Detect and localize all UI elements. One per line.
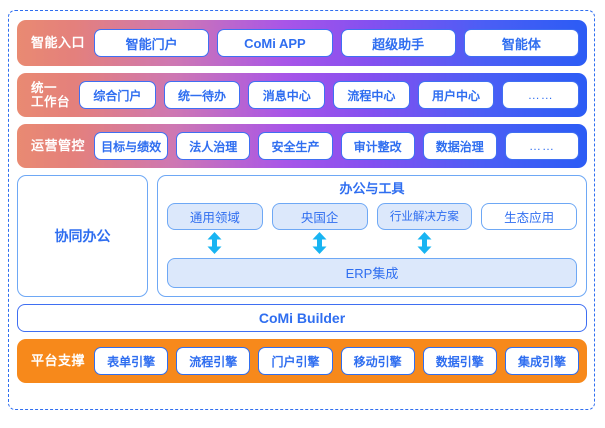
chip-comi-app[interactable]: CoMi APP xyxy=(217,29,332,57)
chip-goal-performance[interactable]: 目标与绩效 xyxy=(94,132,168,160)
chip-form-engine[interactable]: 表单引擎 xyxy=(94,347,168,375)
row-label-intelligent-entry: 智能入口 xyxy=(25,36,94,51)
chip-data-engine[interactable]: 数据引擎 xyxy=(423,347,497,375)
row-label-platform-support: 平台支撑 xyxy=(25,354,94,369)
row-operation-control: 运营管控 目标与绩效 法人治理 安全生产 审计整改 数据治理 …… xyxy=(17,124,587,168)
chip-row-unified-workbench: 综合门户 统一待办 消息中心 流程中心 用户中心 …… xyxy=(79,81,579,109)
row-label-line1: 统一 xyxy=(31,81,70,95)
tool-chip-general-domain[interactable]: 通用领域 xyxy=(167,203,263,230)
chip-more-operation[interactable]: …… xyxy=(505,132,579,160)
chip-more-workbench[interactable]: …… xyxy=(502,81,579,109)
chip-intelligent-portal[interactable]: 智能门户 xyxy=(94,29,209,57)
chip-data-governance[interactable]: 数据治理 xyxy=(423,132,497,160)
tool-chip-industry-solution[interactable]: 行业解决方案 xyxy=(377,203,473,230)
chip-integration-engine[interactable]: 集成引擎 xyxy=(505,347,579,375)
row-label-operation-control: 运营管控 xyxy=(25,139,94,154)
chip-user-center[interactable]: 用户中心 xyxy=(418,81,495,109)
chip-portal-engine[interactable]: 门户引擎 xyxy=(258,347,332,375)
collaborative-office-box[interactable]: 协同办公 xyxy=(17,175,148,297)
row-unified-workbench: 统一 工作台 综合门户 统一待办 消息中心 流程中心 用户中心 …… xyxy=(17,73,587,117)
arrow-cell-3 xyxy=(377,232,473,254)
chip-row-operation-control: 目标与绩效 法人治理 安全生产 审计整改 数据治理 …… xyxy=(94,132,579,160)
double-arrow-icon xyxy=(311,232,328,254)
chip-comprehensive-portal[interactable]: 综合门户 xyxy=(79,81,156,109)
comi-builder-bar[interactable]: CoMi Builder xyxy=(17,304,587,332)
row-label-unified-workbench: 统一 工作台 xyxy=(25,81,79,109)
tool-chip-row: 通用领域 央国企 行业解决方案 生态应用 xyxy=(167,203,577,230)
middle-section: 协同办公 办公与工具 通用领域 央国企 行业解决方案 生态应用 xyxy=(17,175,587,297)
tool-chip-central-soe[interactable]: 央国企 xyxy=(272,203,368,230)
row-label-line2: 工作台 xyxy=(31,95,70,109)
double-arrow-icon xyxy=(206,232,223,254)
chip-corporate-governance[interactable]: 法人治理 xyxy=(176,132,250,160)
arrow-cell-2 xyxy=(272,232,368,254)
row-intelligent-entry: 智能入口 智能门户 CoMi APP 超级助手 智能体 xyxy=(17,20,587,66)
chip-audit-rectification[interactable]: 审计整改 xyxy=(341,132,415,160)
row-platform-support: 平台支撑 表单引擎 流程引擎 门户引擎 移动引擎 数据引擎 集成引擎 xyxy=(17,339,587,383)
chip-message-center[interactable]: 消息中心 xyxy=(248,81,325,109)
chip-row-intelligent-entry: 智能门户 CoMi APP 超级助手 智能体 xyxy=(94,29,579,57)
arrow-row xyxy=(167,231,577,255)
layer-stack: 智能入口 智能门户 CoMi APP 超级助手 智能体 统一 工作台 综合门户 … xyxy=(17,20,587,383)
office-and-tools-box: 办公与工具 通用领域 央国企 行业解决方案 生态应用 xyxy=(157,175,587,297)
chip-unified-todo[interactable]: 统一待办 xyxy=(164,81,241,109)
chip-process-center[interactable]: 流程中心 xyxy=(333,81,410,109)
tool-chip-ecosystem-app[interactable]: 生态应用 xyxy=(481,203,577,230)
chip-super-assistant[interactable]: 超级助手 xyxy=(341,29,456,57)
double-arrow-icon xyxy=(416,232,433,254)
chip-safety-production[interactable]: 安全生产 xyxy=(258,132,332,160)
chip-agent[interactable]: 智能体 xyxy=(464,29,579,57)
erp-integration-bar[interactable]: ERP集成 xyxy=(167,258,577,288)
chip-row-platform-support: 表单引擎 流程引擎 门户引擎 移动引擎 数据引擎 集成引擎 xyxy=(94,347,579,375)
office-and-tools-title: 办公与工具 xyxy=(167,181,577,198)
arrow-cell-1 xyxy=(167,232,263,254)
chip-mobile-engine[interactable]: 移动引擎 xyxy=(341,347,415,375)
architecture-diagram: 智能入口 智能门户 CoMi APP 超级助手 智能体 统一 工作台 综合门户 … xyxy=(0,0,605,428)
chip-process-engine[interactable]: 流程引擎 xyxy=(176,347,250,375)
